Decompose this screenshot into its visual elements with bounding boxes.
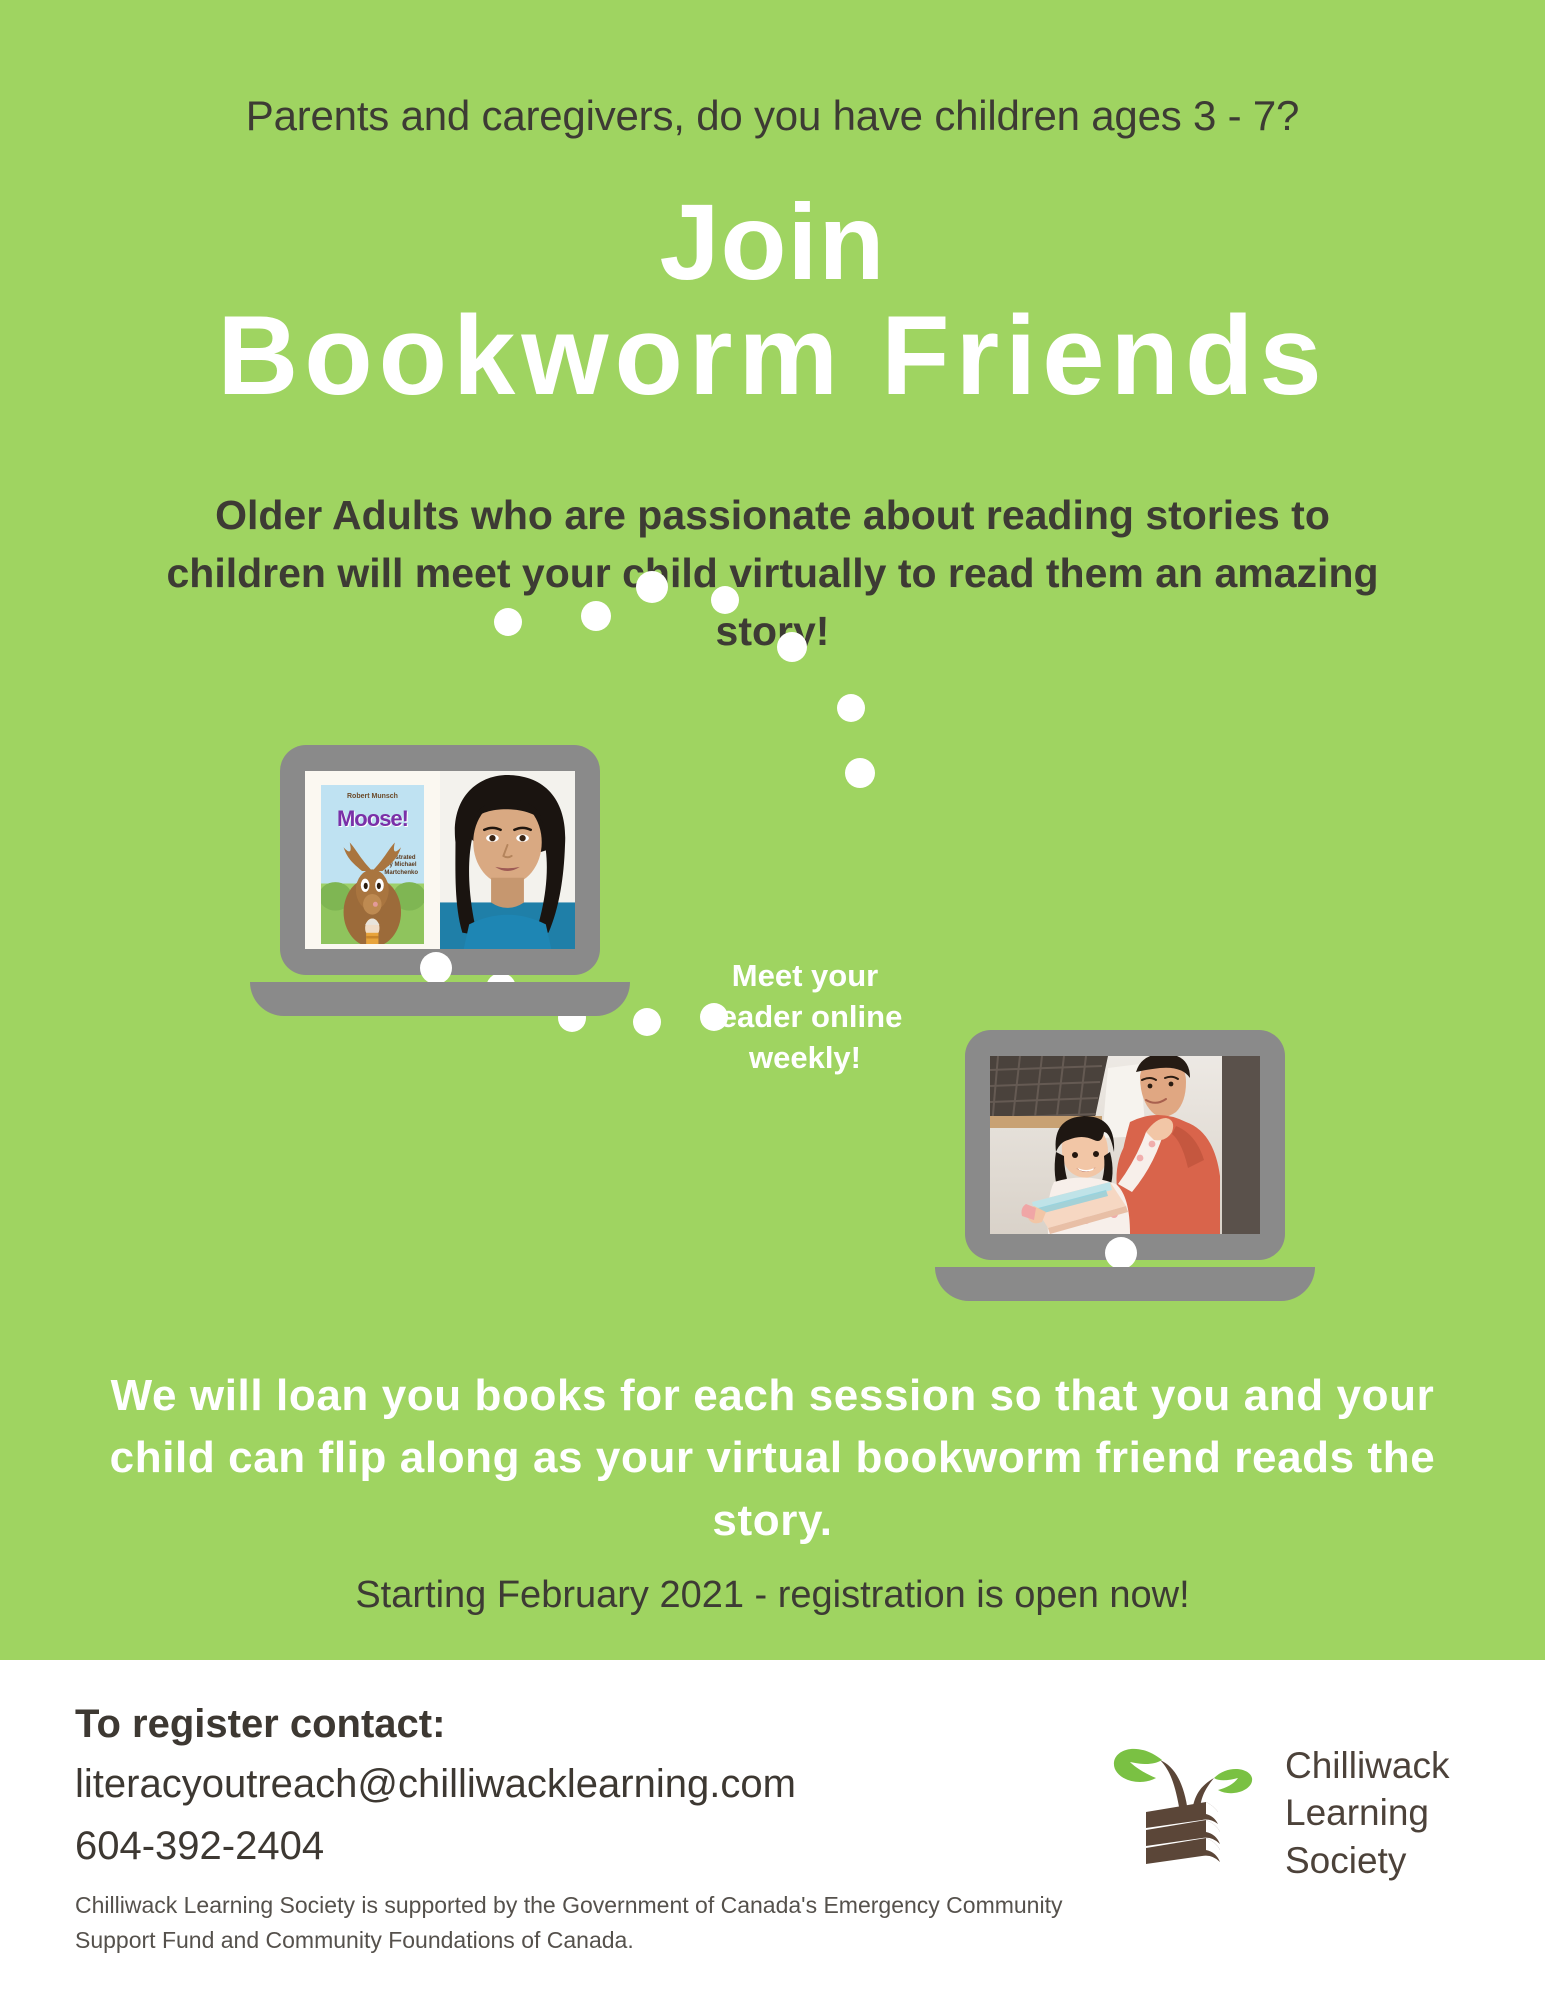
book-loan-text: We will loan you books for each session … <box>95 1365 1450 1552</box>
funding-fineprint: Chilliwack Learning Society is supported… <box>75 1888 1085 1957</box>
chilliwack-learning-society-logo: Chilliwack Learning Society <box>1110 1720 1470 1900</box>
sprout-books-icon <box>1110 1720 1270 1880</box>
meet-reader-caption: Meet your reader online weekly! <box>690 955 920 1079</box>
laptop-camera-dot <box>1105 1237 1137 1269</box>
video-call-split-view: Robert Munsch Moose! Illustrated by Mich… <box>305 771 575 949</box>
logo-line-3: Society <box>1285 1837 1449 1884</box>
decorative-dot <box>494 608 522 636</box>
moose-illustration <box>321 833 424 944</box>
contact-email[interactable]: literacyoutreach@chilliwacklearning.com <box>75 1762 796 1807</box>
decorative-dot <box>633 1008 661 1036</box>
reader-portrait <box>440 771 575 949</box>
laptop-base <box>250 982 630 1016</box>
eyebrow-text: Parents and caregivers, do you have chil… <box>0 92 1545 140</box>
laptop-reader-illustration: Robert Munsch Moose! Illustrated by Mich… <box>250 745 630 1060</box>
laptop-family-illustration <box>935 1030 1315 1345</box>
laptop-camera-dot <box>420 952 452 984</box>
decorative-dot <box>711 586 739 614</box>
page-title-line-1: Join <box>0 188 1545 296</box>
book-cover-pane: Robert Munsch Moose! Illustrated by Mich… <box>305 771 440 949</box>
book-title-label: Moose! <box>321 806 424 832</box>
logo-wordmark: Chilliwack Learning Society <box>1285 1742 1449 1884</box>
laptop-base <box>935 1267 1315 1301</box>
laptop-screen: Robert Munsch Moose! Illustrated by Mich… <box>305 771 575 949</box>
book-cover-moose: Robert Munsch Moose! Illustrated by Mich… <box>321 785 424 943</box>
decorative-dot <box>581 601 611 631</box>
decorative-dot <box>837 694 865 722</box>
laptop-screen <box>990 1056 1260 1234</box>
decorative-dot <box>845 758 875 788</box>
subheading-text: Older Adults who are passionate about re… <box>165 486 1380 661</box>
page-title-line-2: Bookworm Friends <box>0 300 1545 412</box>
poster-root: Parents and caregivers, do you have chil… <box>0 0 1545 2000</box>
hero-panel: Parents and caregivers, do you have chil… <box>0 0 1545 1660</box>
book-author-label: Robert Munsch <box>321 793 424 800</box>
register-heading: To register contact: <box>75 1702 445 1747</box>
decorative-dot <box>777 632 807 662</box>
reader-portrait-pane <box>440 771 575 949</box>
decorative-dot <box>636 571 668 603</box>
contact-phone[interactable]: 604-392-2404 <box>75 1824 324 1869</box>
logo-line-1: Chilliwack <box>1285 1742 1449 1789</box>
logo-line-2: Learning <box>1285 1789 1449 1836</box>
starting-date-text: Starting February 2021 - registration is… <box>0 1574 1545 1617</box>
family-reading-photo <box>990 1056 1260 1234</box>
family-photo-pane <box>990 1056 1260 1234</box>
